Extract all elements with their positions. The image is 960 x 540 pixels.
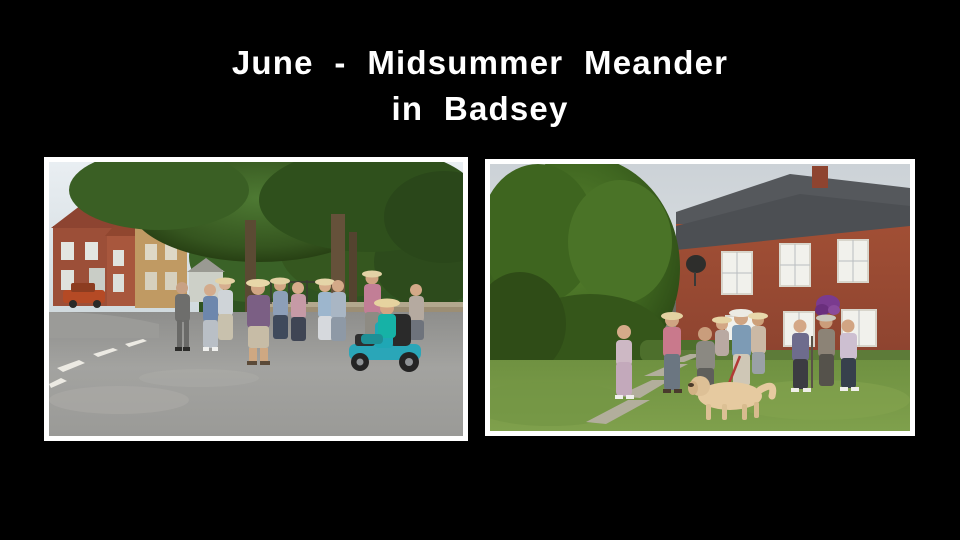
photo-village-street — [44, 157, 468, 441]
title-line-1: June - Midsummer Meander — [0, 40, 960, 86]
title-line-2: in Badsey — [0, 86, 960, 132]
slide-canvas: June - Midsummer Meander in Badsey — [0, 0, 960, 540]
slide-title: June - Midsummer Meander in Badsey — [0, 40, 960, 132]
photo-brick-house-lawn-image — [490, 164, 910, 431]
photo-village-street-image — [49, 162, 463, 436]
village-street-illustration — [49, 162, 463, 436]
photo-brick-house-lawn — [485, 159, 915, 436]
brick-house-lawn-illustration — [490, 164, 910, 431]
